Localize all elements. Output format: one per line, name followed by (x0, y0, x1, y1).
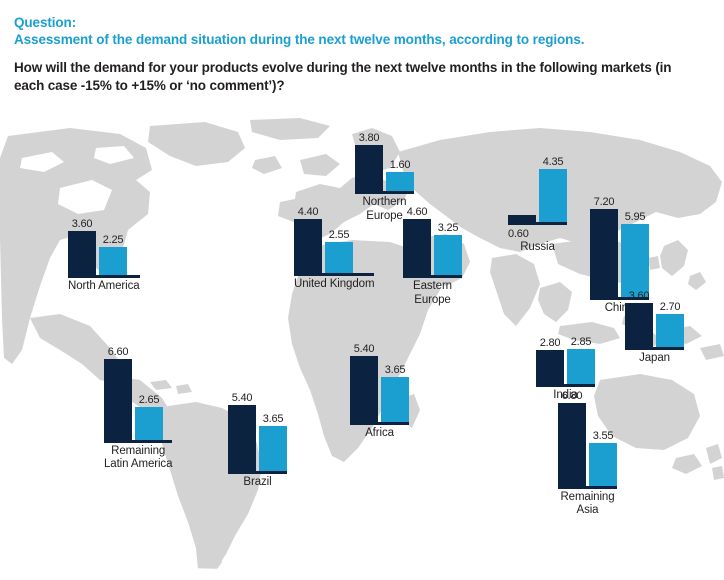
baseline-remaining_asia (558, 486, 617, 489)
bar-value-brazil-generics: 5.40 (232, 392, 253, 404)
bar-china-generics (590, 209, 618, 297)
bar-wrap-eastern_europe-innovators: 3.25 (434, 222, 462, 275)
question-label: Question: (14, 14, 714, 31)
bar-wrap-russia-generics: 0.60 (508, 215, 536, 222)
bar-wrap-united_kingdom-generics: 4.40 (294, 206, 322, 273)
baseline-russia (508, 222, 567, 225)
bar-brazil-innovators (259, 426, 287, 471)
bar-value-russia-generics: 0.60 (508, 228, 529, 240)
bars-remaining_asia: 6.803.55 (558, 390, 617, 486)
bar-wrap-remaining_latin_america-innovators: 2.65 (135, 394, 163, 439)
bar-north_america-generics (68, 231, 96, 275)
bar-value-united_kingdom-generics: 4.40 (298, 206, 319, 218)
bar-value-eastern_europe-generics: 4.60 (407, 206, 428, 218)
bar-northern_europe-innovators (386, 172, 414, 192)
bar-cluster-russia: 0.604.35Russia (508, 156, 567, 255)
baseline-united_kingdom (294, 273, 374, 276)
bar-cluster-remaining_latin_america: 6.602.65Remaining Latin America (104, 346, 172, 472)
baseline-japan (625, 347, 684, 350)
bars-russia: 0.604.35 (508, 156, 567, 222)
region-label-africa: Africa (350, 427, 409, 441)
bar-wrap-china-innovators: 5.95 (621, 211, 649, 297)
region-label-eastern_europe: Eastern Europe (403, 280, 462, 307)
baseline-eastern_europe (403, 275, 462, 278)
bar-japan-innovators (656, 314, 684, 347)
bar-value-remaining_latin_america-generics: 6.60 (108, 346, 129, 358)
region-label-north_america: North America (68, 280, 140, 294)
bar-value-north_america-innovators: 2.25 (103, 234, 124, 246)
bar-cluster-africa: 5.403.65Africa (350, 343, 409, 440)
bar-value-remaining_asia-innovators: 3.55 (593, 430, 614, 442)
bars-northern_europe: 3.801.60 (355, 132, 414, 191)
bar-eastern_europe-generics (403, 219, 431, 275)
bar-united_kingdom-generics (294, 219, 322, 273)
bar-wrap-remaining_asia-innovators: 3.55 (589, 430, 617, 486)
bar-cluster-eastern_europe: 4.603.25Eastern Europe (403, 206, 462, 307)
bar-brazil-generics (228, 405, 256, 471)
bar-wrap-north_america-generics: 3.60 (68, 218, 96, 275)
bar-value-japan-innovators: 2.70 (660, 301, 681, 313)
bar-value-china-generics: 7.20 (594, 196, 615, 208)
bars-japan: 3.602.70 (625, 290, 684, 347)
region-label-remaining_asia: Remaining Asia (558, 491, 617, 518)
infographic-page: Question: Assessment of the demand situa… (0, 0, 724, 580)
bar-china-innovators (621, 224, 649, 297)
bar-cluster-remaining_asia: 6.803.55Remaining Asia (558, 390, 617, 518)
baseline-north_america (68, 275, 140, 278)
bar-wrap-northern_europe-generics: 3.80 (355, 132, 383, 191)
bar-value-remaining_latin_america-innovators: 2.65 (139, 394, 160, 406)
bar-value-india-generics: 2.80 (540, 337, 561, 349)
question-subtitle: Assessment of the demand situation durin… (14, 31, 714, 48)
bar-africa-innovators (381, 377, 409, 422)
bar-cluster-japan: 3.602.70Japan (625, 290, 684, 365)
bar-value-eastern_europe-innovators: 3.25 (438, 222, 459, 234)
bar-value-india-innovators: 2.85 (571, 336, 592, 348)
region-label-japan: Japan (625, 352, 684, 366)
bar-value-africa-innovators: 3.65 (385, 364, 406, 376)
bar-united_kingdom-innovators (325, 242, 353, 273)
header: Question: Assessment of the demand situa… (14, 14, 714, 94)
bar-wrap-brazil-innovators: 3.65 (259, 413, 287, 471)
region-label-brazil: Brazil (228, 476, 287, 490)
bar-northern_europe-generics (355, 145, 383, 191)
bar-wrap-japan-generics: 3.60 (625, 290, 653, 347)
bar-value-japan-generics: 3.60 (629, 290, 650, 302)
bar-russia-innovators (539, 169, 567, 222)
bar-value-northern_europe-generics: 3.80 (359, 132, 380, 144)
region-label-russia: Russia (508, 241, 567, 255)
bar-russia-generics (508, 215, 536, 222)
bar-wrap-africa-innovators: 3.65 (381, 364, 409, 422)
bar-wrap-remaining_asia-generics: 6.80 (558, 390, 586, 486)
question-body: How will the demand for your products ev… (14, 59, 694, 94)
bars-north_america: 3.602.25 (68, 218, 140, 275)
bar-remaining_latin_america-generics (104, 359, 132, 440)
bars-brazil: 5.403.65 (228, 392, 287, 471)
bar-wrap-china-generics: 7.20 (590, 196, 618, 297)
bar-remaining_asia-innovators (589, 443, 617, 486)
bar-remaining_asia-generics (558, 403, 586, 486)
bar-eastern_europe-innovators (434, 235, 462, 275)
bar-wrap-united_kingdom-innovators: 2.55 (325, 229, 353, 273)
baseline-africa (350, 422, 409, 425)
bar-value-northern_europe-innovators: 1.60 (390, 159, 411, 171)
bar-value-africa-generics: 5.40 (354, 343, 375, 355)
bar-value-united_kingdom-innovators: 2.55 (329, 229, 350, 241)
bar-wrap-north_america-innovators: 2.25 (99, 234, 127, 274)
bar-value-remaining_asia-generics: 6.80 (562, 390, 583, 402)
bars-eastern_europe: 4.603.25 (403, 206, 462, 275)
bar-wrap-india-generics: 2.80 (536, 337, 564, 384)
bar-value-brazil-innovators: 3.65 (263, 413, 284, 425)
world-map-panel: 3.602.25North America4.402.55United King… (0, 118, 724, 580)
bar-value-russia-innovators: 4.35 (543, 156, 564, 168)
bar-remaining_latin_america-innovators (135, 407, 163, 439)
bar-india-innovators (567, 349, 595, 384)
bar-value-china-innovators: 5.95 (625, 211, 646, 223)
bars-remaining_latin_america: 6.602.65 (104, 346, 172, 440)
bar-africa-generics (350, 356, 378, 422)
baseline-india (536, 384, 595, 387)
bars-china: 7.205.95 (590, 196, 649, 297)
baseline-brazil (228, 471, 287, 474)
bars-india: 2.802.85 (536, 336, 595, 384)
bar-wrap-brazil-generics: 5.40 (228, 392, 256, 471)
region-label-united_kingdom: United Kingdom (294, 278, 374, 292)
bar-value-north_america-generics: 3.60 (72, 218, 93, 230)
bar-cluster-north_america: 3.602.25North America (68, 218, 140, 293)
bar-japan-generics (625, 303, 653, 347)
bar-india-generics (536, 350, 564, 384)
baseline-remaining_latin_america (104, 440, 172, 443)
bar-wrap-russia-innovators: 4.35 (539, 156, 567, 222)
region-label-remaining_latin_america: Remaining Latin America (104, 445, 172, 472)
bar-wrap-northern_europe-innovators: 1.60 (386, 159, 414, 192)
bar-wrap-africa-generics: 5.40 (350, 343, 378, 422)
bar-wrap-eastern_europe-generics: 4.60 (403, 206, 431, 275)
bar-wrap-remaining_latin_america-generics: 6.60 (104, 346, 132, 440)
bars-africa: 5.403.65 (350, 343, 409, 422)
bar-wrap-india-innovators: 2.85 (567, 336, 595, 384)
bar-wrap-japan-innovators: 2.70 (656, 301, 684, 347)
bar-north_america-innovators (99, 247, 127, 274)
bar-cluster-brazil: 5.403.65Brazil (228, 392, 287, 489)
baseline-northern_europe (355, 191, 414, 194)
